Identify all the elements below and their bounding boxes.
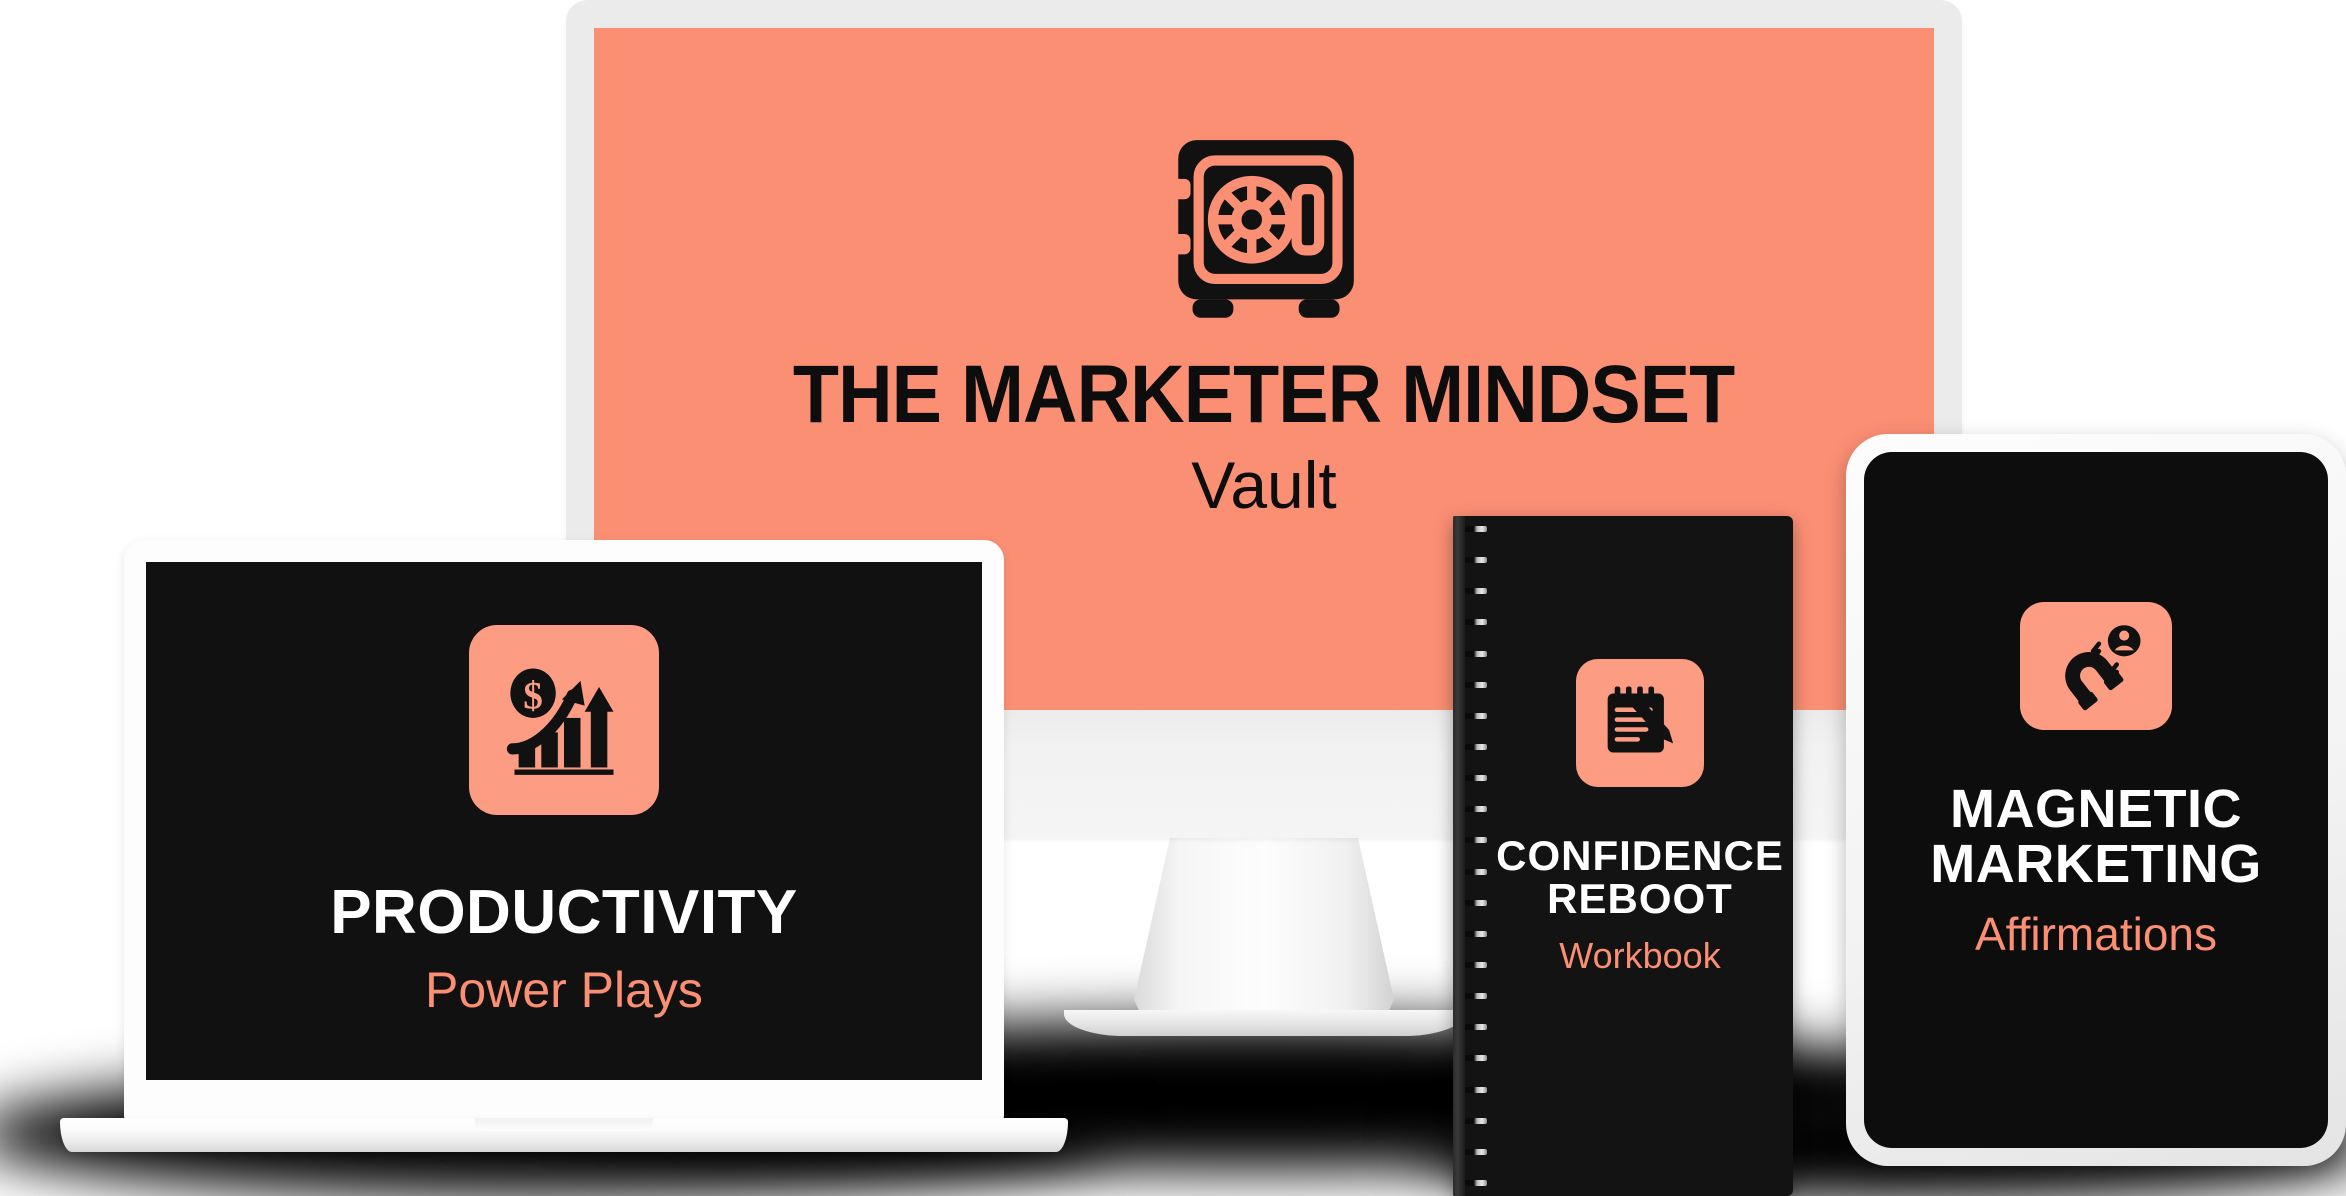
laptop-device: $ PRODUCTIVITY [124, 540, 1004, 1120]
spiral-ring [1465, 1180, 1487, 1186]
spiral-ring [1465, 775, 1487, 781]
spiral-ring [1465, 1087, 1487, 1093]
laptop-product-title: PRODUCTIVITY [330, 881, 798, 944]
spiral-ring [1465, 931, 1487, 937]
spiral-ring [1465, 837, 1487, 843]
tablet-product-title: MAGNETIC MARKETING [1930, 782, 2261, 892]
spiral-ring [1465, 744, 1487, 750]
tablet-title-line1: MAGNETIC [1950, 779, 2242, 839]
growth-chart-dollar-icon: $ [498, 654, 630, 786]
magnet-lead-icon [2042, 620, 2150, 712]
workbook-title-line1: CONFIDENCE [1496, 832, 1784, 879]
spiral-ring [1465, 1024, 1487, 1030]
svg-text:$: $ [523, 675, 543, 718]
magnetic-marketing-icon-tile [2020, 602, 2172, 730]
spiral-ring [1465, 869, 1487, 875]
productivity-icon-tile: $ [469, 625, 659, 815]
spiral-ring [1465, 900, 1487, 906]
spiral-ring [1465, 588, 1487, 594]
laptop-base [60, 1118, 1068, 1152]
workbook-spiral-binding [1465, 522, 1489, 1190]
spiral-ring [1465, 1118, 1487, 1124]
tablet-screen: MAGNETIC MARKETING Affirmations [1864, 452, 2328, 1148]
workbook-device: CONFIDENCE REBOOT Workbook [1453, 516, 1793, 1196]
workbook-product-subtitle: Workbook [1559, 937, 1720, 975]
workbook-product-title: CONFIDENCE REBOOT [1496, 835, 1784, 921]
confidence-icon-tile [1576, 659, 1704, 787]
spiral-ring [1465, 526, 1487, 532]
tablet-product-subtitle: Affirmations [1975, 910, 2217, 958]
laptop-product-subtitle: Power Plays [425, 964, 703, 1017]
workbook-spine-edge [1453, 516, 1465, 1196]
workbook-cover: CONFIDENCE REBOOT Workbook [1453, 516, 1793, 1196]
spiral-ring [1465, 1055, 1487, 1061]
tablet-device: MAGNETIC MARKETING Affirmations [1846, 434, 2346, 1166]
spiral-ring [1465, 1149, 1487, 1155]
spiral-ring [1465, 557, 1487, 563]
workbook-title-line2: REBOOT [1547, 875, 1733, 922]
laptop-lid: $ PRODUCTIVITY [124, 540, 1004, 1120]
spiral-ring [1465, 619, 1487, 625]
monitor-product-title: THE MARKETER MINDSET [793, 354, 1734, 436]
laptop-screen: $ PRODUCTIVITY [146, 562, 982, 1080]
product-mockup-stage: THE MARKETER MINDSET Vault $ [0, 0, 2346, 1196]
monitor-product-subtitle: Vault [1191, 452, 1337, 518]
monitor-stand-neck [1134, 836, 1394, 1022]
spiral-ring [1465, 682, 1487, 688]
vault-safe-icon [1151, 136, 1377, 332]
spiral-ring [1465, 806, 1487, 812]
tablet-title-line2: MARKETING [1930, 834, 2261, 894]
spiral-ring [1465, 962, 1487, 968]
laptop-base-notch [475, 1118, 653, 1131]
tablet-frame: MAGNETIC MARKETING Affirmations [1846, 434, 2346, 1166]
notepad-pencil-icon [1595, 678, 1685, 768]
spiral-ring [1465, 651, 1487, 657]
spiral-ring [1465, 713, 1487, 719]
monitor-stand-base [1064, 1010, 1464, 1036]
spiral-ring [1465, 993, 1487, 999]
